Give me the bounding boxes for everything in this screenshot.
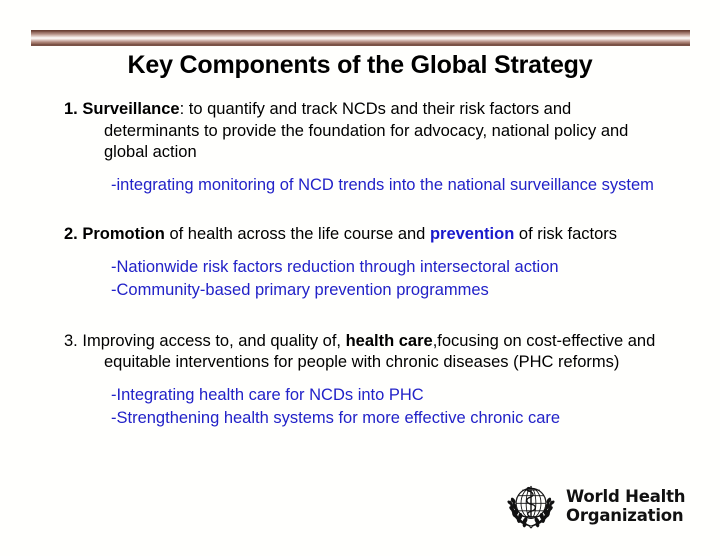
- sub-list-2: -Nationwide risk factors reduction throu…: [64, 256, 656, 303]
- sub-item: -integrating monitoring of NCD trends in…: [64, 174, 656, 198]
- spacer: [64, 164, 656, 171]
- point-3-text-before: Improving access to, and quality of,: [82, 332, 345, 350]
- point-2-heading: Promotion: [82, 225, 165, 243]
- who-wordmark-line-1: World Health: [566, 487, 685, 506]
- content-block-3: 3. Improving access to, and quality of, …: [64, 331, 656, 431]
- spacer: [64, 374, 656, 381]
- spacer: [64, 303, 656, 331]
- who-wordmark-line-2: Organization: [566, 506, 685, 525]
- content-block-1: 1. Surveillance: to quantify and track N…: [64, 99, 656, 197]
- slide-body: 1. Surveillance: to quantify and track N…: [64, 99, 656, 431]
- point-2-emphasis: prevention: [430, 225, 514, 243]
- sub-item: -Community-based primary prevention prog…: [64, 279, 656, 303]
- sub-item: -Integrating health care for NCDs into P…: [64, 384, 656, 408]
- spacer: [64, 246, 656, 253]
- page-title: Key Components of the Global Strategy: [0, 50, 720, 80]
- sub-item: -Nationwide risk factors reduction throu…: [64, 256, 656, 280]
- sub-list-1: -integrating monitoring of NCD trends in…: [64, 174, 656, 198]
- main-point-2: 2. Promotion of health across the life c…: [64, 224, 656, 246]
- main-point-1: 1. Surveillance: to quantify and track N…: [64, 99, 656, 164]
- spacer: [64, 197, 656, 224]
- point-2-number: 2.: [64, 225, 78, 243]
- content-block-2: 2. Promotion of health across the life c…: [64, 224, 656, 303]
- point-1-separator: :: [180, 100, 189, 118]
- who-wordmark: World Health Organization: [566, 487, 685, 525]
- point-2-text: of health across the life course and: [169, 225, 430, 243]
- sub-list-3: -Integrating health care for NCDs into P…: [64, 384, 656, 431]
- point-1-heading: Surveillance: [82, 100, 179, 118]
- point-3-number: 3.: [64, 332, 78, 350]
- who-logo: World Health Organization: [504, 476, 664, 536]
- main-point-3: 3. Improving access to, and quality of, …: [64, 331, 656, 374]
- point-3-heading: health care: [346, 332, 433, 350]
- point-2-text-tail: of risk factors: [514, 225, 617, 243]
- title-accent-bar: [31, 30, 690, 46]
- who-emblem-icon: [504, 479, 558, 533]
- sub-item: -Strengthening health systems for more e…: [64, 407, 656, 431]
- point-1-number: 1.: [64, 100, 78, 118]
- slide-canvas: Key Components of the Global Strategy 1.…: [0, 0, 720, 556]
